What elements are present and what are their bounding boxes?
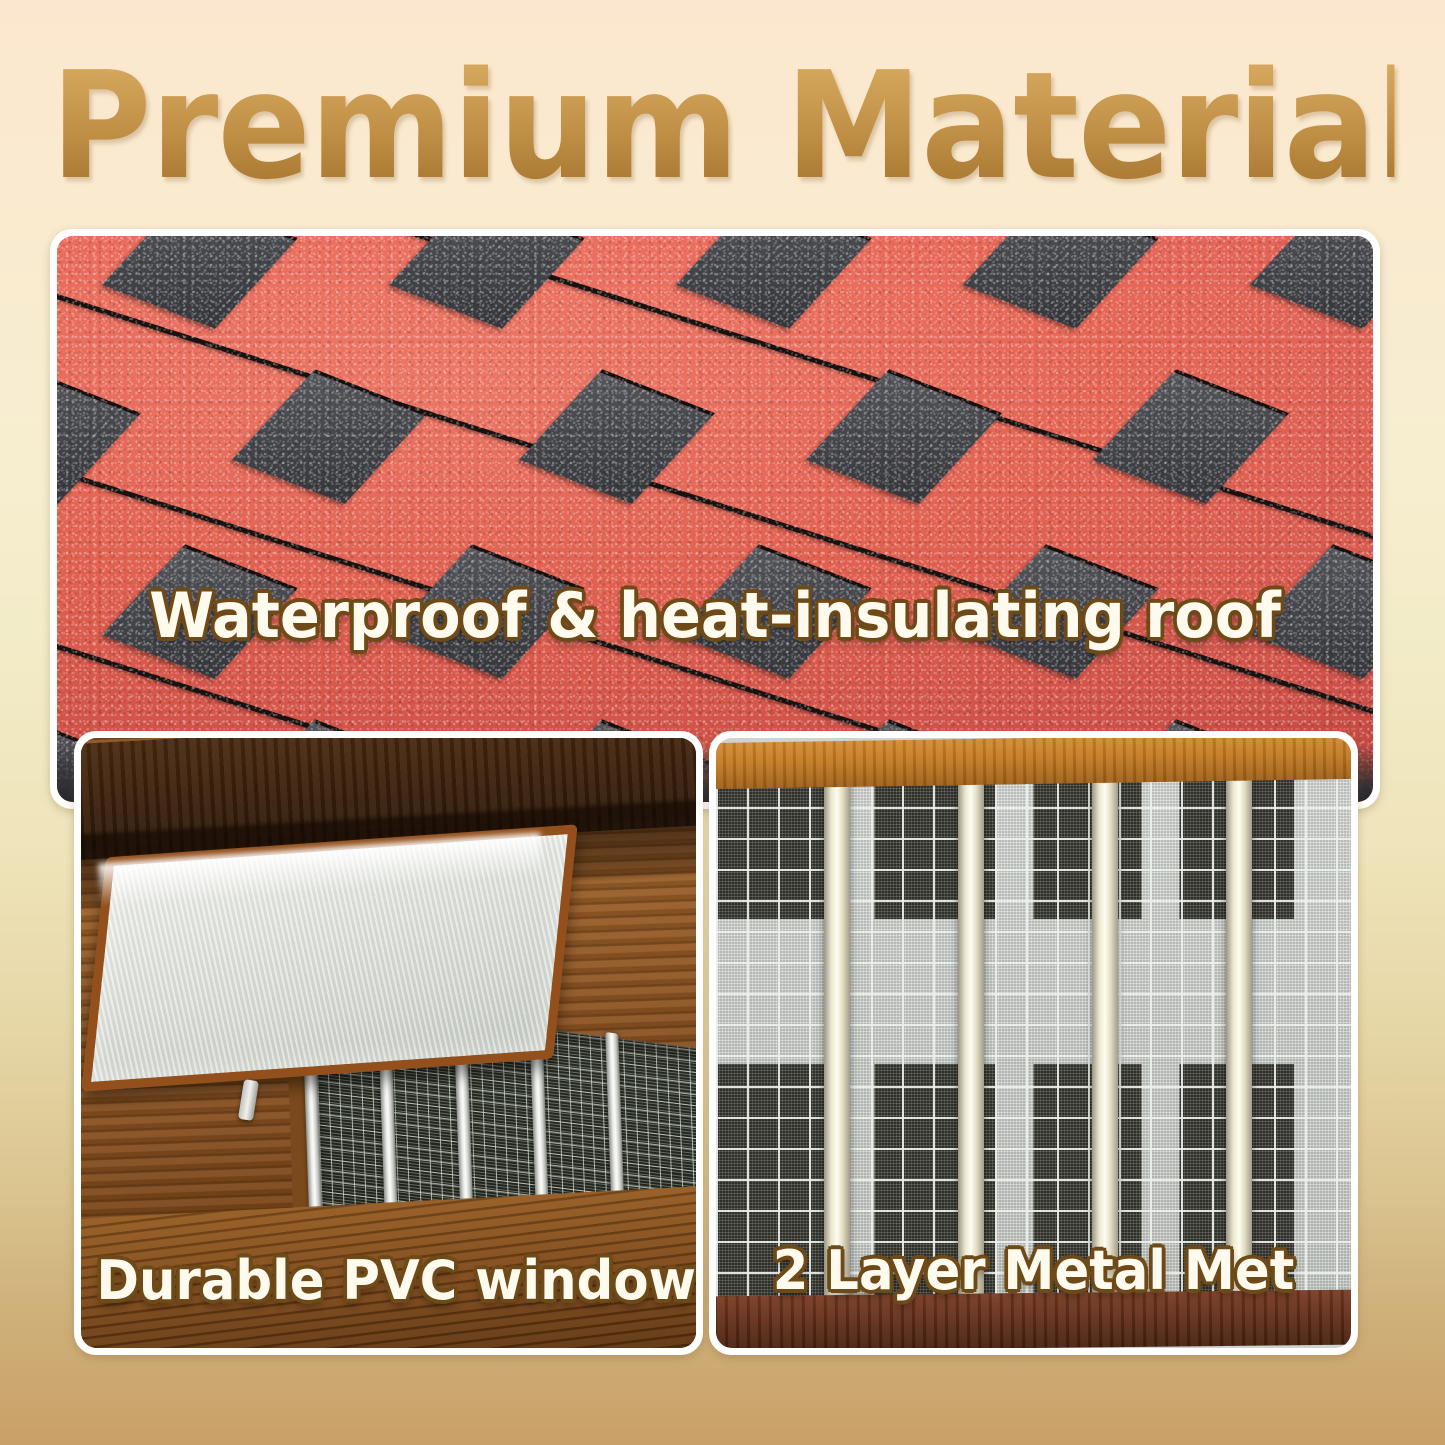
mesh-vertical-slats (716, 769, 1351, 1306)
page-title: Premium Material (51, 52, 1395, 200)
roof-granule-texture (57, 236, 1373, 802)
roof-photo: Waterproof & heat-insulating roof (57, 236, 1373, 802)
metal-mesh-photo: 2 Layer Metal Met (716, 738, 1351, 1348)
feature-card-roof: Waterproof & heat-insulating roof (50, 229, 1380, 809)
feature-card-metal-mesh: 2 Layer Metal Met (709, 731, 1358, 1355)
roof-caption: Waterproof & heat-insulating roof (90, 579, 1340, 652)
metal-mesh-caption: 2 Layer Metal Met (732, 1239, 1335, 1302)
feature-card-pvc-window: Durable PVC windows (74, 731, 703, 1355)
pvc-window-caption: Durable PVC windows (96, 1249, 680, 1312)
pvc-window-photo: Durable PVC windows (81, 738, 696, 1348)
product-infographic-poster: Premium Material Waterproof & heat-insul… (0, 0, 1445, 1445)
